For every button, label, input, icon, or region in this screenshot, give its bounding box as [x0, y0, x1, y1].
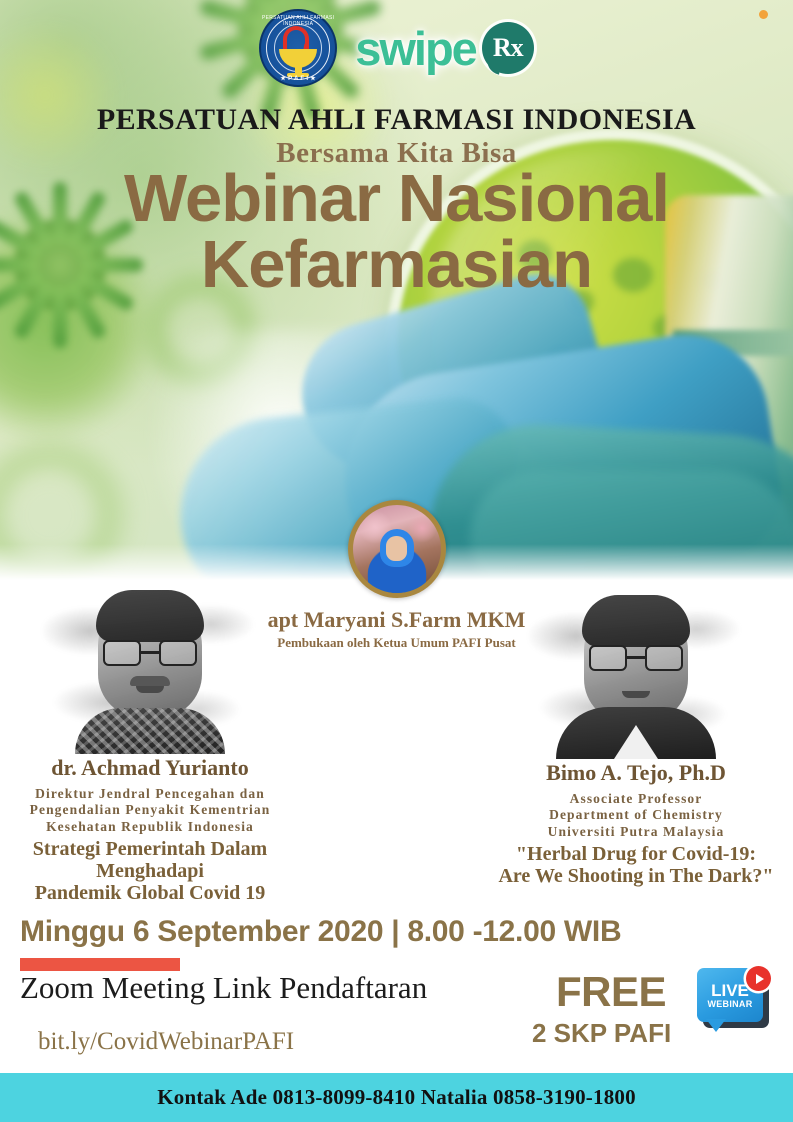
- platform-registration-label: Zoom Meeting Link Pendaftaran: [20, 970, 427, 1006]
- speaker-name: Bimo A. Tejo, Ph.D: [481, 760, 791, 786]
- affiliation-line: Associate Professor: [481, 791, 791, 807]
- badge-webinar-text: WEBINAR: [707, 999, 752, 1009]
- swipe-dot-icon: [759, 10, 768, 19]
- contact-text: Kontak Ade 0813-8099-8410 Natalia 0858-3…: [157, 1085, 636, 1110]
- topic-line: Are We Shooting in The Dark?": [481, 865, 791, 887]
- organization-name: PERSATUAN AHLI FARMASI INDONESIA: [0, 103, 793, 137]
- rx-label: Rx: [493, 33, 523, 63]
- title-line-2: Kefarmasian: [0, 232, 793, 298]
- speaker-topic: Strategi Pemerintah Dalam Menghadapi Pan…: [0, 838, 300, 904]
- play-button-icon: [746, 966, 771, 991]
- affiliation-line: Pengendalian Penyakit Kementrian: [0, 802, 300, 818]
- live-webinar-badge-icon: LIVE WEBINAR: [697, 968, 771, 1040]
- center-speaker: apt Maryani S.Farm MKM Pembukaan oleh Ke…: [0, 500, 793, 651]
- badge-live-text: LIVE: [711, 982, 749, 999]
- swiperx-logo-icon: swipe Rx: [355, 21, 534, 76]
- pafi-logo-icon: PERSATUAN AHLI FARMASI INDONESIA ★ P A F…: [259, 9, 337, 87]
- credits-label: 2 SKP PAFI: [532, 1018, 671, 1049]
- avatar: [348, 500, 446, 598]
- pafi-logo-bottom-text: ★ P A F I ★: [261, 75, 335, 82]
- rx-bubble-icon: Rx: [482, 22, 534, 74]
- affiliation-line: Kesehatan Republik Indonesia: [0, 819, 300, 835]
- affiliation-line: Universiti Putra Malaysia: [481, 824, 791, 840]
- affiliation-line: Department of Chemistry: [481, 807, 791, 823]
- speaker-topic: "Herbal Drug for Covid-19: Are We Shooti…: [481, 843, 791, 887]
- contact-footer: Kontak Ade 0813-8099-8410 Natalia 0858-3…: [0, 1073, 793, 1122]
- speaker-name: dr. Achmad Yurianto: [0, 755, 300, 781]
- topic-line: "Herbal Drug for Covid-19:: [481, 843, 791, 865]
- speaker-affiliation: Associate Professor Department of Chemis…: [481, 791, 791, 840]
- event-date-time: Minggu 6 September 2020 | 8.00 -12.00 WI…: [20, 915, 621, 949]
- topic-line: Pandemik Global Covid 19: [0, 882, 300, 904]
- title-line-1: Webinar Nasional: [124, 161, 669, 236]
- affiliation-line: Direktur Jendral Pencegahan dan: [0, 786, 300, 802]
- registration-link[interactable]: bit.ly/CovidWebinarPAFI: [38, 1028, 294, 1056]
- webinar-poster: PERSATUAN AHLI FARMASI INDONESIA ★ P A F…: [0, 0, 793, 1122]
- center-speaker-role: Pembukaan oleh Ketua Umum PAFI Pusat: [0, 635, 793, 651]
- logo-row: PERSATUAN AHLI FARMASI INDONESIA ★ P A F…: [0, 8, 793, 88]
- swipe-wordmark: swipe: [355, 21, 476, 76]
- price-label: FREE: [556, 968, 666, 1016]
- topic-line: Strategi Pemerintah Dalam Menghadapi: [0, 838, 300, 882]
- page-title: Webinar Nasional Kefarmasian: [0, 166, 793, 299]
- center-speaker-name: apt Maryani S.Farm MKM: [0, 607, 793, 633]
- speaker-affiliation: Direktur Jendral Pencegahan dan Pengenda…: [0, 786, 300, 835]
